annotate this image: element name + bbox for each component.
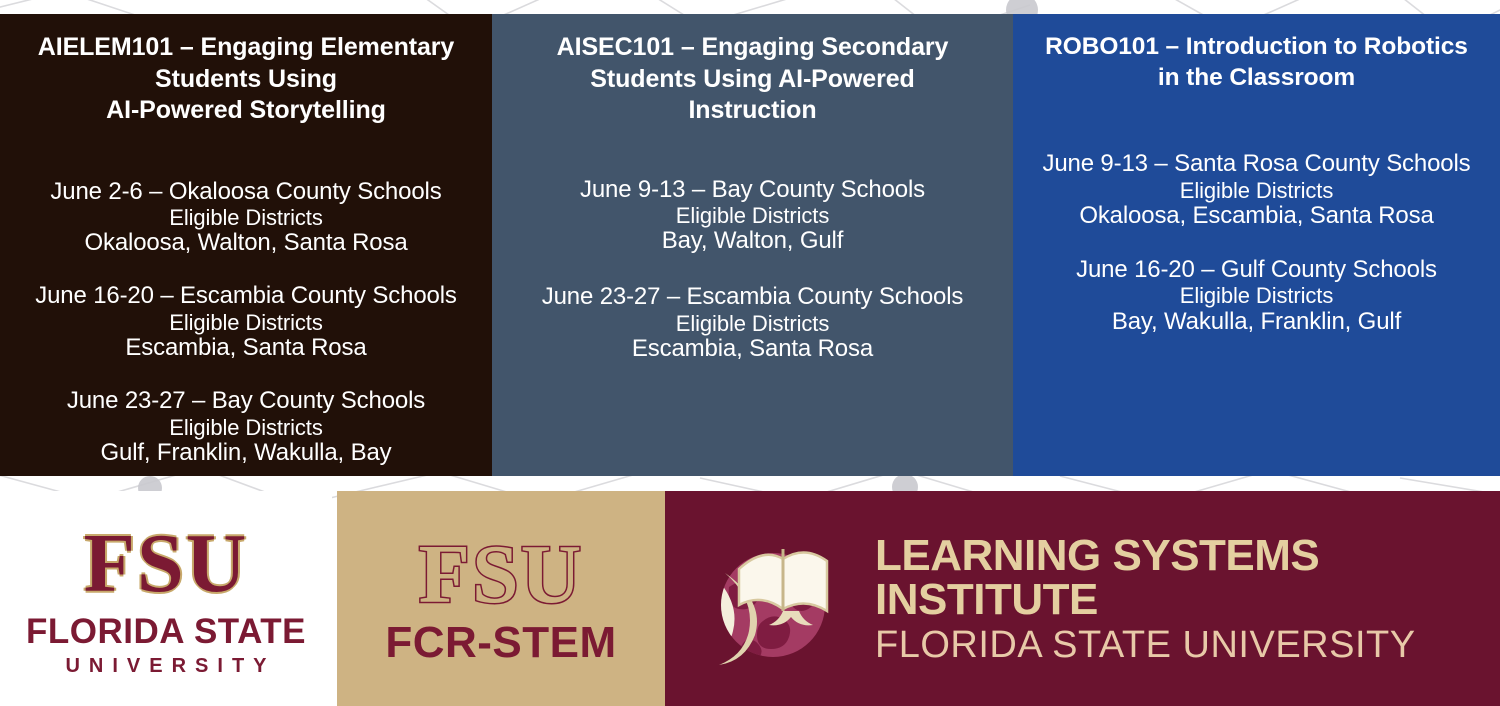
lsi-wordmark: LEARNING SYSTEMS INSTITUTE FLORIDA STATE…	[875, 534, 1500, 664]
lsi-logo-panel: LEARNING SYSTEMS INSTITUTE FLORIDA STATE…	[665, 491, 1500, 706]
course-title: AIELEM101 – Engaging Elementary Students…	[38, 32, 454, 127]
logo-row: FSU FLORIDA STATE UNIVERSITY FSU FCR-STE…	[0, 491, 1500, 706]
session-list: June 9-13 – Bay County Schools Eligible …	[502, 177, 1003, 364]
fsu-florida-state: FLORIDA STATE	[26, 614, 306, 649]
fsu-logo-panel: FSU FLORIDA STATE UNIVERSITY	[0, 491, 332, 706]
fcr-stem-label: FCR-STEM	[385, 621, 616, 665]
session-date: June 16-20 – Escambia County Schools	[10, 283, 482, 310]
session-date: June 9-13 – Santa Rosa County Schools	[1023, 151, 1490, 178]
session-date: June 23-27 – Bay County Schools	[10, 388, 482, 415]
eligible-districts-value: Gulf, Franklin, Wakulla, Bay	[10, 440, 482, 467]
session-date: June 16-20 – Gulf County Schools	[1023, 257, 1490, 284]
eligible-districts-value: Okaloosa, Walton, Santa Rosa	[10, 230, 482, 257]
session-date: June 9-13 – Bay County Schools	[502, 177, 1003, 204]
session-date: June 23-27 – Escambia County Schools	[502, 284, 1003, 311]
session-item: June 23-27 – Escambia County Schools Eli…	[502, 284, 1003, 363]
eligible-districts-value: Escambia, Santa Rosa	[502, 336, 1003, 363]
lsi-university-name: FLORIDA STATE UNIVERSITY	[875, 626, 1500, 664]
fsu-university: UNIVERSITY	[26, 656, 306, 676]
fsu-letters: FSU	[26, 522, 306, 606]
lsi-institute-name: LEARNING SYSTEMS INSTITUTE	[875, 534, 1500, 622]
eligible-districts-value: Escambia, Santa Rosa	[10, 335, 482, 362]
fcr-stem-logo-panel: FSU FCR-STEM	[337, 491, 665, 706]
eligible-districts-value: Bay, Wakulla, Franklin, Gulf	[1023, 309, 1490, 336]
course-title: ROBO101 – Introduction to Robotics in th…	[1045, 32, 1468, 94]
eligible-districts-label: Eligible Districts	[502, 311, 1003, 336]
eligible-districts-label: Eligible Districts	[1023, 178, 1490, 203]
session-item: June 16-20 – Gulf County Schools Eligibl…	[1023, 257, 1490, 336]
session-date: June 2-6 – Okaloosa County Schools	[10, 179, 482, 206]
course-card-aielem101[interactable]: AIELEM101 – Engaging Elementary Students…	[0, 14, 492, 476]
fsu-letters: FSU	[385, 533, 616, 617]
session-item: June 9-13 – Bay County Schools Eligible …	[502, 177, 1003, 256]
session-list: June 9-13 – Santa Rosa County Schools El…	[1023, 151, 1490, 336]
session-item: June 9-13 – Santa Rosa County Schools El…	[1023, 151, 1490, 230]
course-card-aisec101[interactable]: AISEC101 – Engaging Secondary Students U…	[492, 14, 1013, 476]
eligible-districts-label: Eligible Districts	[1023, 283, 1490, 308]
eligible-districts-value: Okaloosa, Escambia, Santa Rosa	[1023, 203, 1490, 230]
course-card-robo101[interactable]: ROBO101 – Introduction to Robotics in th…	[1013, 14, 1500, 476]
fsu-wordmark: FSU FLORIDA STATE UNIVERSITY	[26, 522, 306, 676]
session-item: June 23-27 – Bay County Schools Eligible…	[10, 388, 482, 467]
session-item: June 16-20 – Escambia County Schools Eli…	[10, 283, 482, 362]
eligible-districts-value: Bay, Walton, Gulf	[502, 228, 1003, 255]
session-item: June 2-6 – Okaloosa County Schools Eligi…	[10, 179, 482, 258]
course-panel-row: AIELEM101 – Engaging Elementary Students…	[0, 14, 1500, 476]
globe-book-icon	[711, 529, 841, 669]
eligible-districts-label: Eligible Districts	[10, 310, 482, 335]
eligible-districts-label: Eligible Districts	[10, 415, 482, 440]
eligible-districts-label: Eligible Districts	[502, 203, 1003, 228]
course-title: AISEC101 – Engaging Secondary Students U…	[557, 32, 949, 127]
session-list: June 2-6 – Okaloosa County Schools Eligi…	[10, 179, 482, 467]
eligible-districts-label: Eligible Districts	[10, 205, 482, 230]
fcr-stem-wordmark: FSU FCR-STEM	[385, 533, 616, 665]
